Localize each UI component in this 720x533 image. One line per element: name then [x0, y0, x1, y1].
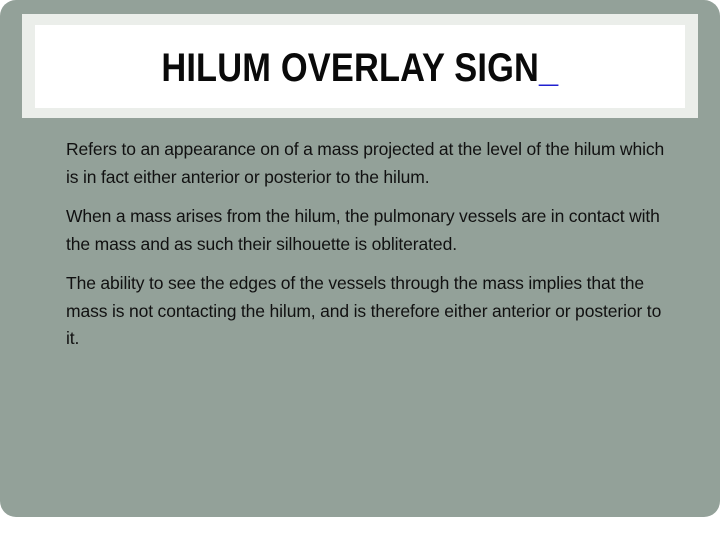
title-box: HILUM OVERLAY SIGN_	[35, 25, 685, 108]
body-paragraph-1: Refers to an appearance on of a mass pro…	[66, 136, 678, 191]
title-placeholder-frame: HILUM OVERLAY SIGN_	[22, 14, 698, 118]
presentation-slide: HILUM OVERLAY SIGN_ Refers to an appeara…	[0, 0, 720, 517]
slide-body: Refers to an appearance on of a mass pro…	[66, 136, 678, 353]
body-paragraph-2: When a mass arises from the hilum, the p…	[66, 203, 678, 258]
slide-canvas: HILUM OVERLAY SIGN_ Refers to an appeara…	[0, 0, 720, 533]
title-trailing-underscore: _	[539, 46, 558, 90]
slide-title: HILUM OVERLAY SIGN_	[161, 46, 558, 90]
slide-title-text: HILUM OVERLAY SIGN	[161, 46, 539, 90]
body-paragraph-3: The ability to see the edges of the vess…	[66, 270, 678, 353]
